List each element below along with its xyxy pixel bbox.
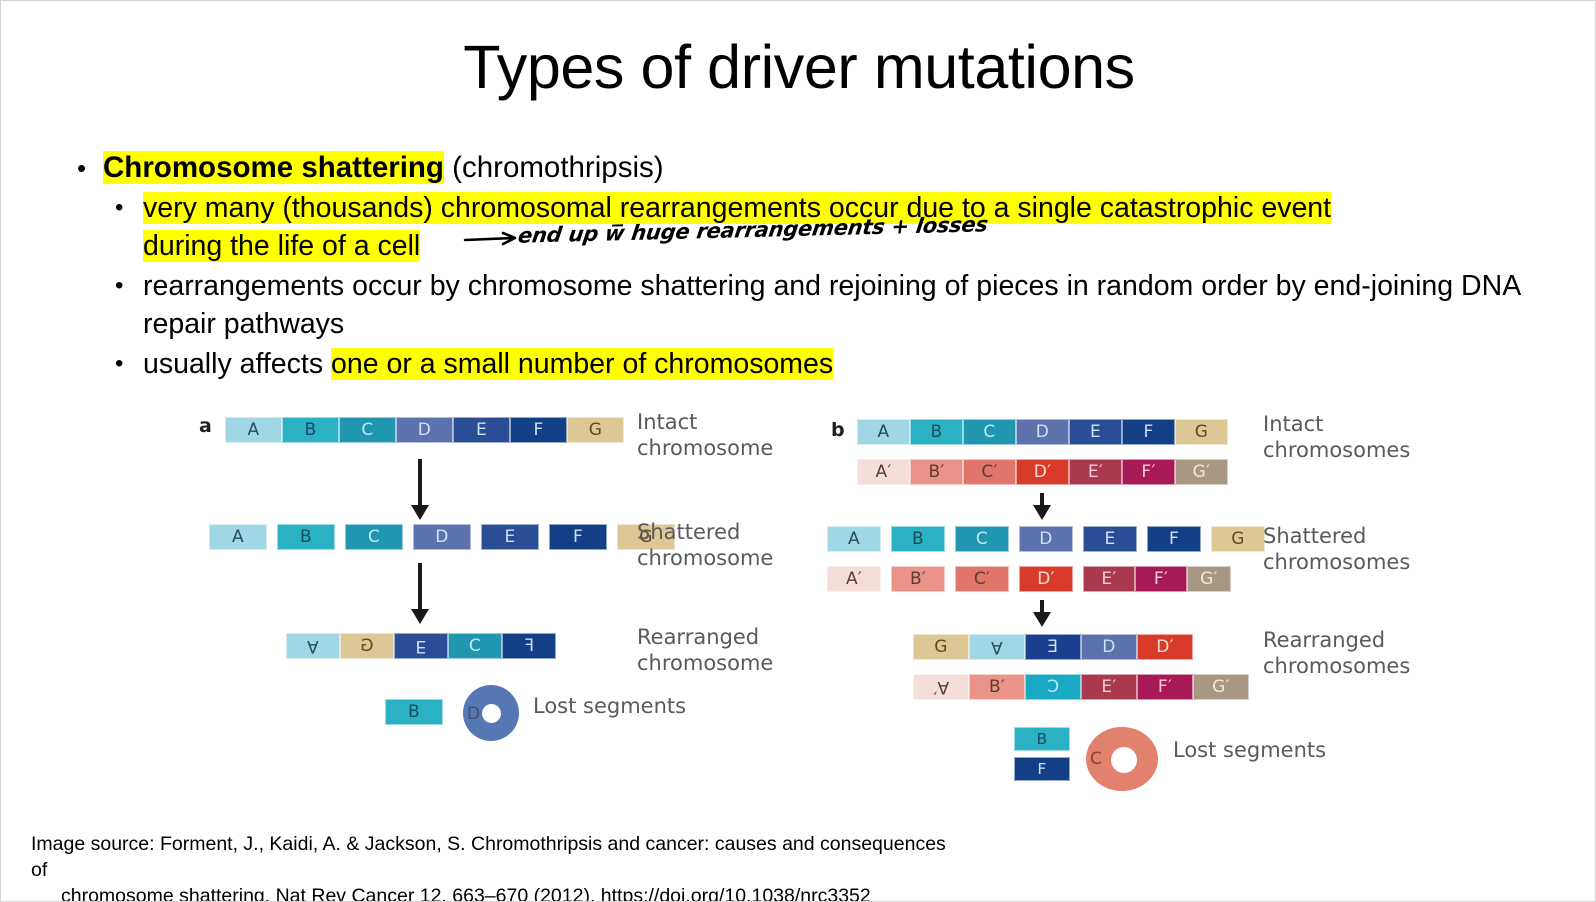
segment-b-shattered1-A: A [827,526,881,552]
segment-b-shattered2-Bp: B′ [891,566,945,592]
lost-segment-a-D-label: D [467,704,480,724]
segment-b-rearranged2-Bp: B′ [969,674,1025,700]
lost-segment-b-F: F [1014,757,1070,781]
segment-b-intact2-Ep: E′ [1069,459,1122,485]
segment-b-rearranged2-Fp: F′ [1137,674,1193,700]
segment-b-rearranged2-C-label: C [1047,675,1059,699]
bullet-level1-rest-text: (chromothripsis) [444,151,664,184]
panel-b-label-rearranged: Rearranged chromosomes [1263,627,1410,679]
bullet-marker: • [77,149,86,187]
segment-b-shattered2-Fp: F′ [1135,566,1187,592]
panel-a-label-rearranged: Rearranged chromosome [637,624,773,676]
segment-b-shattered1-E: E [1083,526,1137,552]
segment-b-shattered1-C: C [955,526,1009,552]
segment-a-shattered-A: A [209,524,267,550]
lost-segment-b-B: B [1014,727,1070,751]
segment-a-rearranged-F-label: F [524,634,534,658]
panel-b-letter: b [831,419,845,441]
segment-a-intact-C: C [339,417,396,443]
segment-b-intact1-C: C [963,419,1016,445]
segment-a-rearranged-E: E [394,633,448,659]
panel-a-lost-segments-label: Lost segments [533,693,686,719]
segment-b-intact1-F: F [1122,419,1175,445]
segment-a-rearranged-F: F [502,633,556,659]
segment-b-rearranged1-Dp: D′ [1137,634,1193,660]
segment-b-intact2-Gp: G′ [1175,459,1228,485]
segment-a-rearranged-A-label: A [307,634,319,658]
panel-b-arrow-1-head [1033,505,1051,520]
segment-b-rearranged1-G: G [913,634,969,660]
segment-a-rearranged-C: C [448,633,502,659]
segment-b-rearranged2-Ap-label: A′ [933,675,949,699]
bullet-marker: • [115,345,123,383]
segment-b-rearranged1-E-label: E [1047,635,1058,659]
segment-a-shattered-C: C [345,524,403,550]
segment-b-intact1-E: E [1069,419,1122,445]
bullet-item2-line1: rearrangements occur by chromosome shatt… [143,270,1371,302]
segment-b-shattered1-B: B [891,526,945,552]
bullet-level2-item-2: •rearrangements occur by chromosome shat… [67,267,1537,343]
segment-b-intact1-D: D [1016,419,1069,445]
citation-line-1: Image source: Forment, J., Kaidi, A. & J… [31,833,946,881]
segment-a-intact-B: B [282,417,339,443]
bullet-marker: • [115,189,123,227]
lost-segment-a-D-ring-hole [482,704,501,723]
segment-b-shattered2-Gp: G′ [1187,566,1231,592]
segment-a-rearranged-A: A [286,633,340,659]
panel-a-arrow-2-shaft [418,563,422,611]
segment-b-rearranged2-Ep: E′ [1081,674,1137,700]
segment-a-shattered-F: F [549,524,607,550]
panel-a-arrow-1-head [411,505,429,520]
segment-a-intact-F: F [510,417,567,443]
segment-b-shattered2-Dp: D′ [1019,566,1073,592]
segment-b-intact1-A: A [857,419,910,445]
segment-a-shattered-D: D [413,524,471,550]
segment-a-shattered-B: B [277,524,335,550]
bullet-item3-prefix: usually affects [143,348,331,380]
bullet-item1-line1: very many (thousands) chromosomal rearra… [143,192,1331,224]
panel-b-arrow-2-head [1033,612,1051,627]
segment-b-intact2-Ap: A′ [857,459,910,485]
panel-a-label-intact: Intact chromosome [637,409,773,461]
segment-b-rearranged2-Ap: A′ [913,674,969,700]
citation-block: Image source: Forment, J., Kaidi, A. & J… [31,831,951,902]
bullet-level2-item-1: •very many (thousands) chromosomal rearr… [67,189,1537,265]
bullet-item1-line2: during the life of a cell [143,230,420,262]
panel-b-label-intact: Intact chromosomes [1263,411,1410,463]
segment-b-rearranged1-A: A [969,634,1025,660]
segment-a-shattered-E: E [481,524,539,550]
figure-chromothripsis-diagram: a A B C D E F G Intact chromosome A B C … [1,397,1596,817]
segment-a-intact-A: A [225,417,282,443]
citation-line-2: chromosome shattering. Nat Rev Cancer 12… [31,883,951,902]
segment-b-rearranged1-A-label: A [991,635,1003,659]
bullet-list: •Chromosome shattering (chromothripsis) … [67,149,1537,383]
segment-b-rearranged2-C: C [1025,674,1081,700]
panel-a-arrow-2-head [411,609,429,624]
segment-a-rearranged-G-label: G [360,634,373,658]
bullet-marker: • [115,267,123,305]
segment-b-rearranged1-D: D [1081,634,1137,660]
segment-b-rearranged1-E: E [1025,634,1081,660]
segment-b-intact2-Bp: B′ [910,459,963,485]
lost-segment-a-B: B [385,699,443,725]
segment-b-shattered1-G: G [1211,526,1265,552]
segment-b-shattered1-D: D [1019,526,1073,552]
segment-b-intact2-Dp: D′ [1016,459,1069,485]
panel-a-label-shattered: Shattered chromosome [637,519,773,571]
segment-b-shattered2-Ap: A′ [827,566,881,592]
segment-a-intact-E: E [453,417,510,443]
bullet-item3-highlight-text: one or a small number of chromosomes [331,348,833,380]
segment-b-intact2-Fp: F′ [1122,459,1175,485]
segment-a-intact-D: D [396,417,453,443]
segment-b-intact1-G: G [1175,419,1228,445]
segment-b-shattered1-F: F [1147,526,1201,552]
panel-b-lost-segments-label: Lost segments [1173,737,1326,763]
panel-a-arrow-1-shaft [418,459,422,507]
segment-b-rearranged2-Gp: G′ [1193,674,1249,700]
segment-b-intact2-Cp: C′ [963,459,1016,485]
segment-a-rearranged-G: G [340,633,394,659]
lost-segment-b-Cp-label: C [1090,749,1102,769]
panel-b-label-shattered: Shattered chromosomes [1263,523,1410,575]
slide-canvas: Types of driver mutations •Chromosome sh… [0,0,1596,902]
bullet-level1-highlight-text: Chromosome shattering [103,151,444,184]
lost-segment-b-Cp-ring-hole [1111,747,1137,773]
segment-b-intact1-B: B [910,419,963,445]
segment-b-shattered2-Cp: C′ [955,566,1009,592]
bullet-level2-item-3: •usually affects one or a small number o… [67,345,1537,383]
panel-a-letter: a [199,415,212,437]
segment-a-rearranged-E-label: E [415,634,426,658]
page-title: Types of driver mutations [1,35,1596,99]
bullet-level1-chromosome-shattering: •Chromosome shattering (chromothripsis) [67,149,1537,187]
segment-b-shattered2-Ep: E′ [1083,566,1135,592]
segment-a-intact-G: G [567,417,624,443]
